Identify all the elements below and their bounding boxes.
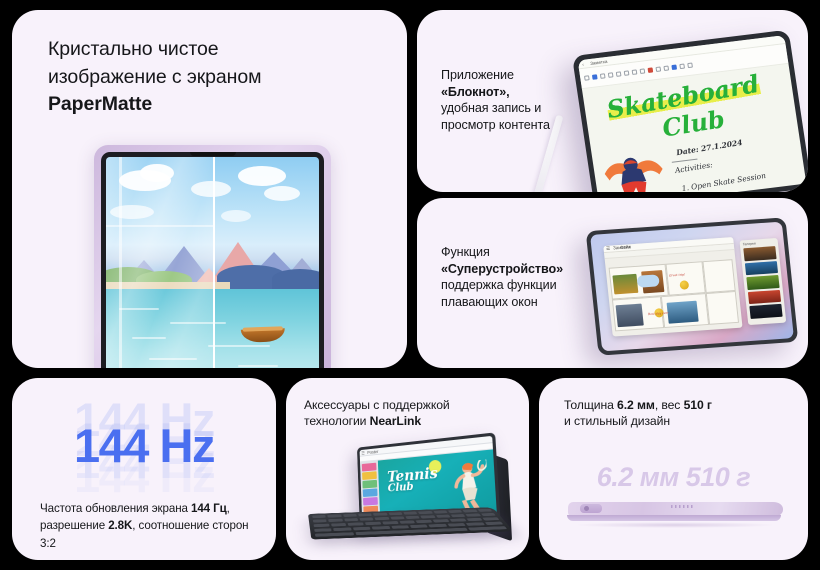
speaker-grille: [671, 505, 693, 508]
template-thumb[interactable]: [362, 480, 377, 488]
card-papermatte[interactable]: Кристально чистоеизображение с экраномPa…: [12, 10, 407, 368]
handwritten-activities-label: Activities:: [674, 160, 713, 175]
gallery-thumb[interactable]: [749, 304, 783, 319]
handwritten-date: Date: 27.1.2024: [676, 138, 744, 157]
tablet-frame: ‹ Заметка: [572, 30, 808, 192]
caption-aspect: 3:2: [40, 537, 56, 550]
gallery-thumb[interactable]: [746, 275, 780, 290]
template-thumb[interactable]: [362, 463, 377, 471]
papermatte-brand: PaperMatte: [48, 93, 152, 115]
nearlink-description: Аксессуары с поддержкойтехнологии NearLi…: [304, 397, 512, 429]
note-grid: Great trip! Best day ever: [607, 251, 739, 334]
papermatte-title-line2: изображение с экраном: [48, 66, 261, 88]
card-superdevice[interactable]: Функция«Суперустройство»поддержка функци…: [417, 198, 808, 368]
camera-notch: [190, 152, 236, 156]
poster-headline: TennisClub: [387, 466, 439, 494]
superdevice-screen: ☰ Заметка Файл: [590, 222, 794, 352]
highlighter-tool-icon[interactable]: [592, 74, 598, 80]
tablet-front-device: [94, 145, 331, 368]
text-tool-icon[interactable]: [624, 70, 630, 76]
lake-scene-wallpaper: [106, 157, 319, 368]
thickness-description: Толщина 6.2 мм, вес 510 ги стильный диза…: [564, 397, 790, 429]
nearlink-line1: Аксессуары с поддержкой: [304, 398, 450, 412]
papermatte-title: Кристально чистоеизображение с экраномPa…: [48, 36, 378, 119]
gallery-thumb[interactable]: [743, 246, 777, 261]
weight-value: 510 г: [684, 398, 712, 412]
window-menu-icon[interactable]: ☰: [606, 246, 612, 251]
template-thumb[interactable]: [363, 489, 378, 497]
detachable-keyboard[interactable]: [308, 507, 513, 539]
template-thumb[interactable]: [362, 471, 377, 479]
thickness-line2: и стильный дизайн: [564, 414, 670, 428]
note-window[interactable]: ☰ Заметка Файл: [603, 237, 743, 337]
color-red-swatch[interactable]: [648, 67, 654, 73]
card-thickness-weight[interactable]: Толщина 6.2 мм, вес 510 ги стильный диза…: [539, 378, 808, 560]
card-refresh-rate[interactable]: 144 Hz 144 Hz 144 Hz 144 Hz 144 Hz Часто…: [12, 378, 276, 560]
sticker-tool-icon[interactable]: [640, 68, 646, 74]
thickness-value: 6.2 мм: [617, 398, 655, 412]
tablet-edge: [567, 515, 781, 521]
template-thumb[interactable]: [363, 497, 378, 505]
superdevice-line1: Функция: [441, 245, 490, 259]
pen-tool-icon[interactable]: [584, 75, 590, 81]
notepad-line3: удобная запись и: [441, 101, 541, 115]
notepad-screen: ‹ Заметка: [578, 35, 807, 192]
caption-bold-res: 2.8K: [108, 519, 132, 532]
comparison-split-line: [213, 157, 215, 368]
share-icon[interactable]: [687, 63, 693, 69]
notepad-line1: Приложение: [441, 68, 514, 82]
camera-module: [580, 504, 602, 513]
superdevice-description: Функция«Суперустройство»поддержка функци…: [441, 244, 611, 311]
window-tab-2[interactable]: Файл: [620, 245, 626, 250]
tablet-side-profile: [563, 502, 783, 525]
card-notepad-app[interactable]: Приложение«Блокнот»,удобная запись ипрос…: [417, 10, 808, 192]
more-options-icon[interactable]: [679, 64, 685, 70]
gallery-thumb[interactable]: [748, 290, 782, 305]
floating-gallery-window[interactable]: Галерея: [739, 238, 786, 324]
editor-menu-icon[interactable]: ☰: [361, 450, 365, 455]
refresh-rate-caption: Частота обновления экрана 144 Гц, разреш…: [40, 500, 254, 552]
thickness-headline: 6.2 мм 510 г: [539, 462, 808, 493]
lasso-tool-icon[interactable]: [616, 71, 622, 77]
skateboarder-illustration: [598, 147, 672, 192]
refresh-rate-headline: 144 Hz: [12, 418, 276, 473]
tablet-frame: ☰ Заметка Файл: [586, 217, 799, 355]
tablet-notepad-device: ‹ Заметка: [572, 30, 808, 192]
superdevice-line4: плавающих окон: [441, 295, 538, 309]
card-nearlink[interactable]: Аксессуары с поддержкойтехнологии NearLi…: [286, 378, 529, 560]
tablet-superdevice: ☰ Заметка Файл: [586, 217, 799, 355]
eraser-tool-icon[interactable]: [600, 73, 606, 79]
shape-tool-icon[interactable]: [608, 72, 614, 78]
device-shadow: [573, 522, 777, 528]
window-tab-1[interactable]: Заметка: [613, 245, 619, 250]
nearlink-brand: NearLink: [370, 414, 421, 428]
undo-icon[interactable]: [655, 66, 661, 72]
back-chevron-icon[interactable]: ‹: [582, 61, 588, 67]
gallery-panel-title: Галерея: [743, 241, 756, 246]
redo-icon[interactable]: [663, 65, 669, 71]
gallery-thumb[interactable]: [745, 261, 779, 276]
superdevice-line2: «Суперустройство»: [441, 262, 563, 276]
tablet-bezel: [101, 152, 324, 368]
refresh-rate-headline-group: 144 Hz 144 Hz 144 Hz 144 Hz 144 Hz: [12, 390, 276, 482]
tablet-with-keyboard: ☰ Poster TennisClub: [308, 440, 514, 558]
editor-doc-name: Poster: [367, 449, 371, 454]
notepad-doc-name: Заметка: [590, 60, 596, 66]
caption-bold-hz: 144 Гц: [191, 502, 227, 515]
image-tool-icon[interactable]: [632, 69, 638, 75]
notepad-line4: просмотр контента: [441, 118, 550, 132]
product-feature-grid: Кристально чистоеизображение с экраномPa…: [0, 0, 820, 570]
superdevice-line3: поддержка функции: [441, 278, 557, 292]
papermatte-title-line1: Кристально чистое: [48, 38, 218, 60]
palette-icon[interactable]: [671, 65, 677, 71]
notepad-line2: «Блокнот»,: [441, 85, 510, 99]
glossy-glare-overlay: [106, 157, 213, 368]
